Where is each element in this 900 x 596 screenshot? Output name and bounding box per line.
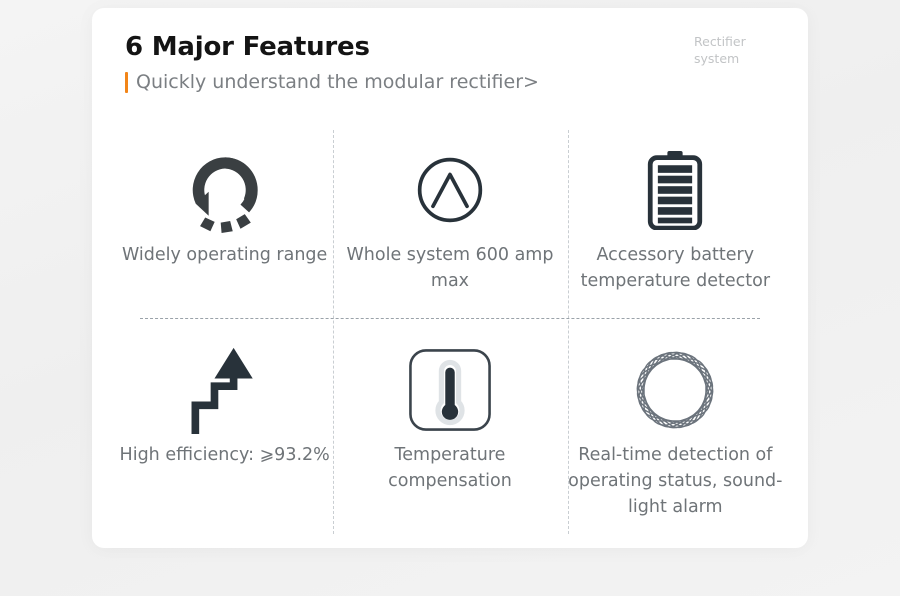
feature-item-realtime-detection[interactable]: Real-time detection of operating status,… <box>563 326 788 532</box>
thermometer-icon <box>407 344 493 436</box>
feature-label: Real-time detection of operating status,… <box>568 442 783 520</box>
feature-item-temperature-compensation[interactable]: Temperature compensation <box>337 326 562 532</box>
battery-icon <box>645 144 705 236</box>
feature-label: Whole system 600 amp max <box>342 242 557 294</box>
accent-bar <box>125 72 128 93</box>
feature-item-battery-temp-detector[interactable]: Accessory battery temperature detector <box>563 120 788 326</box>
corner-label: Rectifier system <box>694 33 780 67</box>
feature-label: Accessory battery temperature detector <box>568 242 783 294</box>
stairs-up-arrow-icon <box>191 344 259 436</box>
feature-item-whole-system-amp[interactable]: Whole system 600 amp max <box>337 120 562 326</box>
subtitle-row: Quickly understand the modular rectifier… <box>125 71 539 93</box>
rotation-arrow-icon <box>182 144 268 236</box>
feature-item-widely-operating-range[interactable]: Widely operating range <box>112 120 337 326</box>
page-root: 6 Major Features Quickly understand the … <box>0 0 900 596</box>
circle-peak-icon <box>413 144 487 236</box>
feature-item-high-efficiency[interactable]: High efficiency: ⩾93.2% <box>112 326 337 532</box>
features-card: 6 Major Features Quickly understand the … <box>92 8 808 548</box>
subtitle-text: Quickly understand the modular rectifier… <box>136 71 539 93</box>
page-title: 6 Major Features <box>125 32 370 62</box>
feature-label: Temperature compensation <box>342 442 557 494</box>
feature-grid: Widely operating range Whole system 600 … <box>112 120 788 532</box>
feature-label: Widely operating range <box>122 242 327 268</box>
spirograph-squares-icon <box>632 344 718 436</box>
feature-label: High efficiency: ⩾93.2% <box>120 442 330 468</box>
